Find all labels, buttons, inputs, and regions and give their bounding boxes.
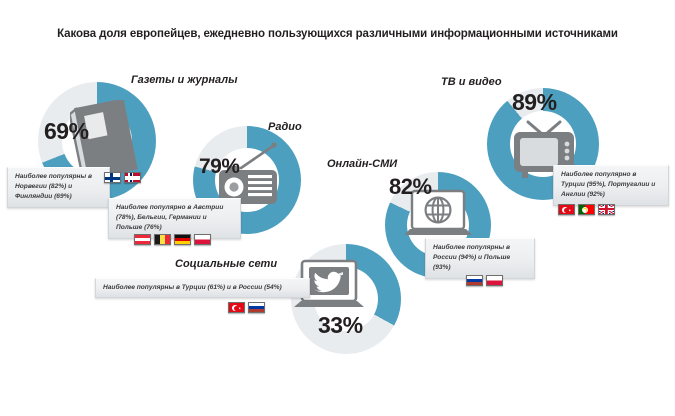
russia-flag [466,275,483,286]
portugal-flag [578,204,595,215]
caption-newspapers: Наиболее популярны в Норвегии (82%) и Фи… [7,167,110,208]
flags-tv-video [558,204,615,215]
caption-online-media: Наиболее популярны в России (94%) и Поль… [425,238,535,279]
value-radio: 79% [199,155,240,179]
germany-flag [174,234,191,245]
heading-radio: Радио [268,121,302,133]
turkey-flag [558,204,575,215]
caption-tv-video: Наиболее популярно в Турции (95%), Порту… [553,165,669,206]
heading-social-networks: Социальные сети [175,258,277,270]
flags-online-media [466,275,503,286]
russia-flag [248,302,265,313]
poland-flag [194,234,211,245]
infographic-canvas: Какова доля европейцев, ежедневно пользу… [0,0,675,416]
value-social-networks: 33% [318,312,363,339]
poland-flag [486,275,503,286]
norway-flag [124,172,141,183]
flags-newspapers [104,172,141,183]
value-online-media: 82% [389,174,432,200]
caption-radio: Наиболее популярно в Австрии (78%), Бель… [108,198,241,239]
finland-flag [104,172,121,183]
flags-radio [134,234,211,245]
caption-social-networks: Наиболее популярны в Турции (61%) и в Ро… [95,278,310,298]
section-social-networks: 33% Социальные сети Наиболее популярны в… [80,250,400,370]
value-newspapers: 69% [44,118,89,145]
austria-flag [134,234,151,245]
turkey-flag [228,302,245,313]
belgium-flag [154,234,171,245]
uk-flag [598,204,615,215]
flags-social-networks [228,302,265,313]
heading-online-media: Онлайн-СМИ [327,158,397,170]
